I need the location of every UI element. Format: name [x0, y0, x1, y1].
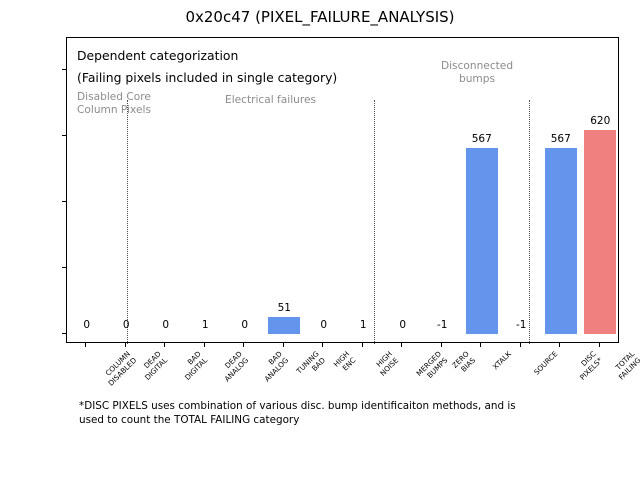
bar-value-label: -1 — [516, 319, 526, 331]
bar-value-label: 620 — [590, 115, 610, 127]
x-tick-label-line: XTALK — [491, 350, 513, 372]
x-tick-mark — [480, 343, 481, 347]
divider-line-2 — [374, 100, 375, 344]
page-title: 0x20c47 (PIXEL_FAILURE_ANALYSIS) — [0, 8, 640, 26]
x-tick-label-line: SOURCE — [533, 350, 560, 377]
x-tick-label: BADANALOG — [257, 350, 290, 383]
x-tick-mark — [401, 343, 402, 347]
annotation-disconnected-bumps-line1: Disconnected — [441, 60, 513, 73]
x-tick-label: COLUMNDISABLED — [100, 350, 138, 388]
footnote-line-2: used to count the TOTAL FAILING category — [79, 414, 579, 428]
bar-value-label: 567 — [551, 133, 571, 145]
bar-value-label: 0 — [399, 319, 406, 331]
x-tick-label: SOURCE — [533, 350, 560, 377]
x-tick-label: ZEROBIAS — [451, 350, 477, 376]
x-tick-mark — [85, 343, 86, 347]
bar[interactable] — [584, 130, 616, 334]
x-tick-label: DEADANALOG — [217, 350, 250, 383]
footnote: *DISC PIXELS uses combination of various… — [79, 400, 579, 427]
x-tick-label: TOTALFAILING — [611, 350, 640, 382]
x-tick-mark — [559, 343, 560, 347]
divider-line-3 — [529, 100, 530, 344]
bar[interactable] — [268, 317, 300, 334]
annotation-electrical-failures: Electrical failures — [225, 94, 316, 107]
x-tick-mark — [441, 343, 442, 347]
x-tick-mark — [322, 343, 323, 347]
annotation-heading-line1: Dependent categorization — [77, 48, 238, 63]
x-tick-mark — [520, 343, 521, 347]
bar-value-label: 0 — [83, 319, 90, 331]
annotation-disconnected-bumps-line2: bumps — [459, 73, 495, 86]
divider-line-1 — [127, 100, 128, 344]
x-tick-label: BADDIGITAL — [177, 350, 209, 382]
x-tick-label: HIGHENC — [332, 350, 357, 375]
bar[interactable] — [545, 148, 577, 335]
annotation-disabled-core-line2: Column Pixels — [77, 104, 151, 117]
x-tick-mark — [164, 343, 165, 347]
x-tick-mark — [362, 343, 363, 347]
bar[interactable] — [466, 148, 498, 335]
x-tick-label: XTALK — [491, 350, 513, 372]
x-tick-label: DEADDIGITAL — [137, 350, 169, 382]
bar-value-label: 0 — [320, 319, 327, 331]
bar-value-label: 0 — [123, 319, 130, 331]
x-tick-mark — [243, 343, 244, 347]
annotation-heading-line2: (Failing pixels included in single categ… — [77, 70, 337, 85]
plot-area: Dependent categorization (Failing pixels… — [66, 37, 619, 343]
x-tick-label: HIGHNOISE — [373, 350, 401, 378]
annotation-disabled-core-line1: Disabled Core — [77, 91, 151, 104]
x-tick-label: DISCPIXELS* — [572, 350, 604, 382]
x-tick-mark — [125, 343, 126, 347]
footnote-line-1: *DISC PIXELS uses combination of various… — [79, 400, 579, 414]
bar-value-label: -1 — [437, 319, 447, 331]
x-tick-label: TUNINGBAD — [295, 350, 327, 382]
bar-value-label: 0 — [162, 319, 169, 331]
bar-value-label: 567 — [472, 133, 492, 145]
x-tick-mark — [204, 343, 205, 347]
x-tick-mark — [283, 343, 284, 347]
bar-value-label: 1 — [360, 319, 367, 331]
bar-value-label: 0 — [241, 319, 248, 331]
x-tick-mark — [599, 343, 600, 347]
x-tick-label: MERGEDBUMPS — [415, 350, 449, 384]
bar-value-label: 51 — [278, 302, 291, 314]
bar-value-label: 1 — [202, 319, 209, 331]
